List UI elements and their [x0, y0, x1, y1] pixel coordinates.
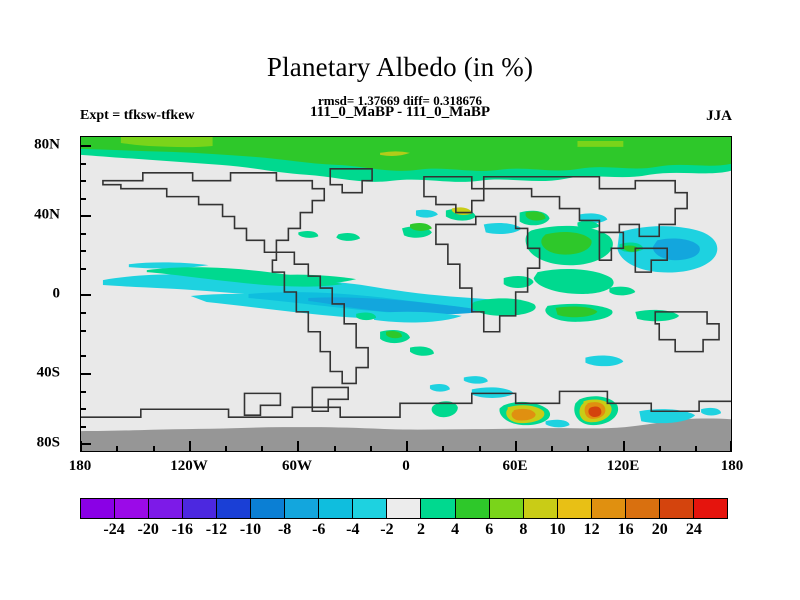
y-major-tick — [80, 215, 91, 217]
x-major-tick — [730, 441, 732, 452]
colorbar-swatch-12 — [490, 499, 524, 518]
x-major-tick — [80, 441, 82, 452]
colorbar-swatch-1 — [115, 499, 149, 518]
x-minor-tick — [587, 446, 589, 452]
x-major-tick — [515, 441, 517, 452]
colorbar-swatch-14 — [558, 499, 592, 518]
x-major-tick — [297, 441, 299, 452]
y-minor-tick — [80, 426, 86, 428]
y-major-tick — [80, 373, 91, 375]
colorbar-swatch-10 — [421, 499, 455, 518]
x-tick-label-0: 0 — [371, 458, 441, 475]
colorbar-swatch-3 — [183, 499, 217, 518]
colorbar-swatch-17 — [660, 499, 694, 518]
y-tick-label-80n: 80N — [0, 137, 60, 154]
colorbar-swatch-16 — [626, 499, 660, 518]
x-minor-tick — [334, 446, 336, 452]
x-minor-tick — [479, 446, 481, 452]
colorbar-swatch-0 — [81, 499, 115, 518]
y-minor-tick — [80, 250, 86, 252]
y-minor-tick — [80, 268, 86, 270]
x-minor-tick — [442, 446, 444, 452]
y-minor-tick — [80, 330, 86, 332]
map-contour-layer — [81, 137, 731, 451]
y-minor-tick — [80, 180, 86, 182]
colorbar-swatch-6 — [285, 499, 319, 518]
x-tick-label-180e: 180 — [697, 458, 767, 475]
y-tick-label-0: 0 — [0, 286, 60, 303]
x-tick-label-120e: 120E — [588, 458, 658, 475]
x-minor-tick — [261, 446, 263, 452]
x-minor-tick — [551, 446, 553, 452]
colorbar-swatch-5 — [251, 499, 285, 518]
map-plot-area — [80, 136, 732, 452]
y-tick-label-40n: 40N — [0, 207, 60, 224]
y-major-tick — [80, 145, 91, 147]
y-minor-tick — [80, 355, 86, 357]
x-tick-label-120w: 120W — [154, 458, 224, 475]
colorbar-tick-label-17: 24 — [671, 521, 717, 539]
colorbar-swatch-11 — [456, 499, 490, 518]
x-minor-tick — [370, 446, 372, 452]
y-minor-tick — [80, 163, 86, 165]
colorbar-swatch-13 — [524, 499, 558, 518]
x-minor-tick — [116, 446, 118, 452]
colorbar-swatch-15 — [592, 499, 626, 518]
colorbar-tick-labels: -24-20-16-12-10-8-6-4-224681012162024 — [80, 521, 728, 543]
y-tick-label-40s: 40S — [0, 365, 60, 382]
y-minor-tick — [80, 312, 86, 314]
x-minor-tick — [695, 446, 697, 452]
colorbar-swatch-9 — [387, 499, 421, 518]
colorbar — [80, 498, 728, 519]
colorbar-swatch-8 — [353, 499, 387, 518]
x-minor-tick — [659, 446, 661, 452]
y-minor-tick — [80, 391, 86, 393]
x-tick-label-60w: 60W — [262, 458, 332, 475]
colorbar-swatch-7 — [319, 499, 353, 518]
colorbar-swatch-4 — [217, 499, 251, 518]
y-tick-label-80s: 80S — [0, 435, 60, 452]
x-minor-tick — [153, 446, 155, 452]
x-tick-label-180w: 180 — [45, 458, 115, 475]
x-major-tick — [189, 441, 191, 452]
page-title: Planetary Albedo (in %) — [0, 52, 800, 83]
x-major-tick — [623, 441, 625, 452]
colorbar-swatch-18 — [694, 499, 727, 518]
y-major-tick — [80, 294, 91, 296]
x-major-tick — [406, 441, 408, 452]
figure-canvas: Planetary Albedo (in %) rmsd= 1.37669 di… — [0, 0, 800, 600]
season-label: JJA — [706, 108, 732, 125]
x-tick-label-60e: 60E — [480, 458, 550, 475]
y-minor-tick — [80, 233, 86, 235]
colorbar-swatch-2 — [149, 499, 183, 518]
y-minor-tick — [80, 408, 86, 410]
x-minor-tick — [225, 446, 227, 452]
y-minor-tick — [80, 198, 86, 200]
experiment-label: Expt = tfksw-tfkew — [80, 108, 195, 124]
